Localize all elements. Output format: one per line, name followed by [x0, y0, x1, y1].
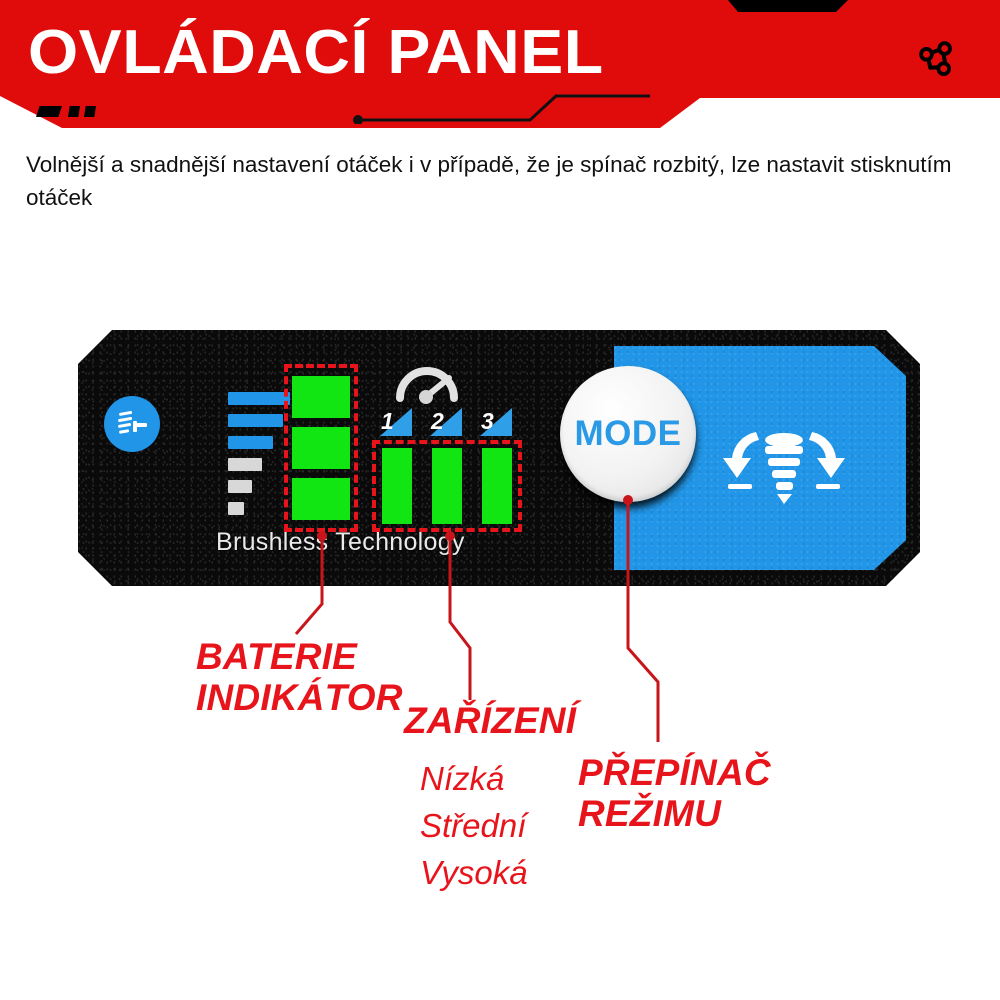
annotation-speed-list: Nízká Střední Vysoká	[420, 755, 528, 896]
control-panel-device: 1 2 3 Brushless Technology MODE	[78, 330, 920, 586]
mode-button-label: MODE	[575, 414, 682, 454]
gear-number-3: 3	[480, 408, 512, 436]
speed-medium-label: Střední	[420, 802, 528, 849]
screw-rotation-arrows-icon	[718, 418, 850, 506]
speedometer-icon	[392, 356, 462, 404]
intro-description: Volnější a snadnější nastavení otáček i …	[26, 148, 966, 214]
brushless-technology-label: Brushless Technology	[216, 528, 616, 557]
annotation-device: ZAŘÍZENÍ	[404, 700, 576, 741]
header-circuit-line-decoration	[350, 92, 650, 124]
header-dash-marks-decoration	[36, 106, 106, 120]
annotation-device-line1: ZAŘÍZENÍ	[404, 700, 576, 741]
gear-highlight-box	[372, 440, 522, 532]
gear-number-2: 2	[430, 408, 462, 436]
speed-low-label: Nízká	[420, 755, 528, 802]
share-network-icon	[914, 38, 960, 84]
battery-highlight-box	[284, 364, 358, 532]
screw-bolt-icon	[104, 396, 160, 452]
gear-number-1: 1	[380, 408, 412, 436]
gear-number-text: 2	[431, 407, 444, 435]
speed-high-label: Vysoká	[420, 849, 528, 896]
annotation-mode-line1: PŘEPÍNAČ	[578, 752, 771, 793]
page-title: OVLÁDACÍ PANEL	[28, 16, 604, 90]
annotation-battery-indicator: BATERIE INDIKÁTOR	[196, 636, 403, 718]
gear-number-text: 1	[381, 407, 394, 435]
annotation-battery-line2: INDIKÁTOR	[196, 677, 403, 718]
header-top-tab-decoration	[728, 0, 848, 12]
annotation-mode-switch: PŘEPÍNAČ REŽIMU	[578, 752, 771, 834]
gear-number-labels: 1 2 3	[380, 408, 516, 438]
annotation-battery-line1: BATERIE	[196, 636, 403, 677]
page-root: OVLÁDACÍ PANEL Volnější a snadnější nast…	[0, 0, 1000, 1000]
gear-number-text: 3	[481, 407, 494, 435]
mode-button[interactable]: MODE	[560, 366, 696, 502]
annotation-mode-line2: REŽIMU	[578, 793, 771, 834]
